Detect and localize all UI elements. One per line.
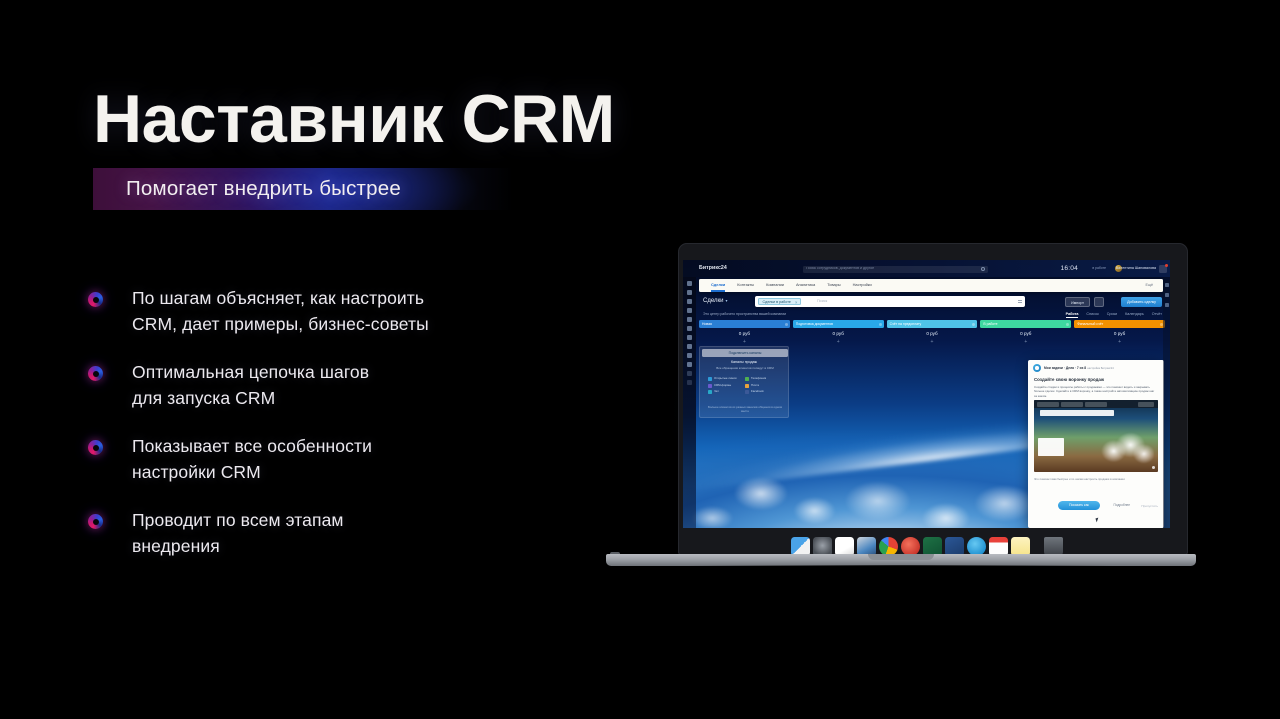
channels-panel: Подключить каналы Каналы продаж Все обра… xyxy=(699,346,789,418)
subtitle-banner: Помогает внедрить быстрее xyxy=(93,168,513,210)
filter-search-input[interactable]: Сделки в работе Поиск xyxy=(755,296,1025,307)
feature-list: По шагам объясняет, как настроить CRM, д… xyxy=(88,286,558,582)
video-tab xyxy=(1138,402,1154,407)
rail-icon-2[interactable] xyxy=(1165,293,1169,297)
openline-icon xyxy=(708,377,712,381)
section-title: Сделки▾ xyxy=(703,298,727,305)
filter-placeholder: Поиск xyxy=(817,299,827,303)
popup-body: Создайте стадии и процессы работы с прод… xyxy=(1034,385,1158,398)
kanban-add-row: + + + + + xyxy=(699,340,1165,346)
channel-item[interactable]: Facebook xyxy=(745,390,778,394)
mouse-cursor-icon xyxy=(1095,518,1099,523)
clock-time: 16:04 xyxy=(1060,265,1078,272)
app-logo-text: Битрикс24 xyxy=(699,265,727,271)
app-topbar: Битрикс24 Поиск сотрудников, документов … xyxy=(683,260,1170,277)
view-tab-deadline[interactable]: Сроки xyxy=(1107,312,1117,318)
channel-item[interactable]: Телефония xyxy=(745,377,778,381)
assistant-avatar-icon xyxy=(1033,364,1041,372)
view-tab-kanban[interactable]: Работа xyxy=(1066,312,1079,318)
popup-cta-button[interactable]: Показать как xyxy=(1058,501,1100,510)
popup-title: Создайте свою воронку продаж xyxy=(1034,378,1104,383)
global-search-placeholder: Поиск сотрудников, документов и другое xyxy=(806,267,966,271)
video-panel xyxy=(1038,438,1064,456)
popup-more-link[interactable]: Подробнее xyxy=(1113,504,1130,508)
stage-sum: 0 руб xyxy=(980,331,1071,336)
sidebar-item-chat[interactable] xyxy=(687,290,692,295)
kanban-stage[interactable]: Новая xyxy=(699,320,790,328)
chat-icon xyxy=(708,390,712,394)
list-item: Показывает все особенности настройки CRM xyxy=(88,434,558,485)
view-tab-list[interactable]: Список xyxy=(1086,312,1098,318)
word-icon[interactable] xyxy=(945,537,964,556)
sidebar-item-calendar[interactable] xyxy=(687,308,692,313)
ring-bullet-icon xyxy=(88,440,103,455)
popup-skip-link[interactable]: Пропустить xyxy=(1141,505,1158,508)
list-item-label: Проводит по всем этапам внедрения xyxy=(132,508,344,559)
video-tab xyxy=(1085,402,1107,407)
sidebar-item-drive[interactable] xyxy=(687,317,692,322)
global-search-input[interactable]: Поиск сотрудников, документов и другое xyxy=(803,266,988,273)
add-deal-plus-icon[interactable]: + xyxy=(793,340,884,346)
channel-item[interactable]: Почта xyxy=(745,384,778,388)
list-item: Оптимальная цепочка шагов для запуска CR… xyxy=(88,360,558,411)
laptop-base-notch xyxy=(868,554,934,560)
popup-header-line2: настройка Битрикс24 xyxy=(1087,367,1114,370)
play-icon[interactable] xyxy=(1152,466,1155,469)
list-item: По шагам объясняет, как настроить CRM, д… xyxy=(88,286,558,337)
video-cloud xyxy=(1098,430,1154,464)
connect-channels-button[interactable]: Подключить каналы xyxy=(702,349,788,357)
add-deal-plus-icon[interactable]: + xyxy=(1074,340,1165,346)
list-item-label: Оптимальная цепочка шагов для запуска CR… xyxy=(132,360,369,411)
system-preferences-icon[interactable] xyxy=(813,537,832,556)
view-mode-tabs: Работа Список Сроки Календарь Отчёт xyxy=(1066,312,1162,318)
calendar-icon[interactable] xyxy=(989,537,1008,556)
excel-icon[interactable] xyxy=(923,537,942,556)
stage-sum: 0 руб xyxy=(793,331,884,336)
channel-item[interactable]: CRM-формы xyxy=(708,384,741,388)
laptop-screen: Битрикс24 Поиск сотрудников, документов … xyxy=(683,260,1170,528)
stage-sum: 0 руб xyxy=(1074,331,1165,336)
kanban-stage-sums: 0 руб 0 руб 0 руб 0 руб 0 руб xyxy=(699,331,1165,336)
tab-companies[interactable]: Компании xyxy=(766,283,784,287)
add-deal-plus-icon[interactable]: + xyxy=(980,340,1071,346)
stage-sum: 0 руб xyxy=(887,331,978,336)
sidebar-item-apps[interactable] xyxy=(687,362,692,367)
tab-deals[interactable]: Сделки xyxy=(711,283,725,287)
sidebar-item-company[interactable] xyxy=(687,344,692,349)
app-sidebar xyxy=(683,277,696,528)
tab-settings[interactable]: Настройки xyxy=(853,283,872,287)
video-tab xyxy=(1037,402,1059,407)
facebook-icon xyxy=(745,390,749,394)
kanban-stage[interactable]: В работе xyxy=(980,320,1071,328)
tab-analytics[interactable]: Аналитика xyxy=(796,283,815,287)
channel-item[interactable]: Чат xyxy=(708,390,741,394)
list-item: Проводит по всем этапам внедрения xyxy=(88,508,558,559)
ring-bullet-icon xyxy=(88,292,103,307)
sidebar-item-more-2[interactable] xyxy=(687,380,692,385)
notifications-button[interactable] xyxy=(1159,265,1167,273)
finder-icon[interactable] xyxy=(791,537,810,556)
onboarding-popup: Мои задачи · Дела · 7 из 8 настройка Бит… xyxy=(1028,360,1164,528)
kanban-stage[interactable]: Счёт на предоплату xyxy=(887,320,978,328)
laptop-mockup: Битрикс24 Поиск сотрудников, документов … xyxy=(606,243,1196,598)
app-logo[interactable]: Битрикс24 xyxy=(699,266,727,272)
popup-header: Мои задачи · Дела · 7 из 8 настройка Бит… xyxy=(1033,364,1114,372)
channels-panel-title: Каналы продаж xyxy=(700,361,788,365)
sidebar-item-tasks[interactable] xyxy=(687,299,692,304)
list-item-label: По шагам объясняет, как настроить CRM, д… xyxy=(132,286,429,337)
notes-icon[interactable] xyxy=(1011,537,1030,556)
view-tab-calendar[interactable]: Календарь xyxy=(1125,312,1144,318)
search-icon xyxy=(981,267,985,271)
user-name[interactable]: Валентина Шаповалова xyxy=(1116,267,1156,271)
app-right-rail xyxy=(1163,277,1170,528)
sidebar-item-automation[interactable] xyxy=(687,353,692,358)
subtitle-text: Помогает внедрить быстрее xyxy=(126,177,401,201)
sidebar-item-feed[interactable] xyxy=(687,281,692,286)
mail-icon xyxy=(745,384,749,388)
sidebar-item-more-1[interactable] xyxy=(687,371,692,376)
app-store-icon[interactable] xyxy=(967,537,986,556)
crm-tabbar: Сделки Контакты Компании Аналитика Товар… xyxy=(699,279,1163,292)
sidebar-item-crm[interactable] xyxy=(687,326,692,331)
phone-icon xyxy=(745,377,749,381)
powerpoint-icon[interactable] xyxy=(901,537,920,556)
tab-products[interactable]: Товары xyxy=(827,283,840,287)
chevron-down-icon[interactable]: ▾ xyxy=(725,298,727,303)
add-deal-plus-icon[interactable]: + xyxy=(887,340,978,346)
view-tab-report[interactable]: Отчёт xyxy=(1152,312,1162,318)
filter-chip[interactable]: Сделки в работе xyxy=(758,298,801,305)
add-deal-plus-icon[interactable]: + xyxy=(699,340,790,346)
video-browser-bar xyxy=(1034,400,1158,408)
pages-icon[interactable] xyxy=(835,537,854,556)
chrome-icon[interactable] xyxy=(879,537,898,556)
video-tab xyxy=(1061,402,1083,407)
form-icon xyxy=(708,384,712,388)
popup-header-line1: Мои задачи · Дела · 7 из 8 xyxy=(1044,366,1086,370)
ring-bullet-icon xyxy=(88,514,103,529)
tab-more-button[interactable]: Ещё xyxy=(1145,283,1153,287)
kanban-stage[interactable]: Финальный счёт xyxy=(1074,320,1165,328)
channel-item[interactable]: Открытые линии xyxy=(708,377,741,381)
page-title: Наставник CRM xyxy=(93,79,615,159)
photos-icon[interactable] xyxy=(857,537,876,556)
tab-contacts[interactable]: Контакты xyxy=(737,283,754,287)
channels-panel-subtitle: Все обращения клиентов попадут в CRM xyxy=(706,366,784,370)
slide-root: Наставник CRM Помогает внедрить быстрее … xyxy=(0,0,1280,719)
rail-icon-3[interactable] xyxy=(1165,303,1169,307)
popup-header-text: Мои задачи · Дела · 7 из 8 настройка Бит… xyxy=(1044,366,1114,371)
section-title-label: Сделки xyxy=(703,298,723,304)
kanban-stage-bar: Новая Подготовка документов Счёт на пред… xyxy=(699,320,1165,328)
sidebar-item-sites[interactable] xyxy=(687,335,692,340)
add-deal-button[interactable]: Добавить сделку xyxy=(1121,297,1162,307)
video-panel xyxy=(1040,410,1114,416)
rail-icon-1[interactable] xyxy=(1165,283,1169,287)
kanban-stage[interactable]: Подготовка документов xyxy=(793,320,884,328)
laptop-shadow xyxy=(616,565,1186,575)
stage-sum: 0 руб xyxy=(699,331,790,336)
bitrix24-window: Битрикс24 Поиск сотрудников, документов … xyxy=(683,260,1170,528)
filter-icon[interactable] xyxy=(1018,300,1022,303)
hint-text: Это центр рабочего пространства вашей ко… xyxy=(703,313,786,317)
popup-note: Это поможет вам быстрее и по шагам настр… xyxy=(1034,477,1158,481)
trash-icon[interactable] xyxy=(1044,537,1063,556)
settings-gear-icon[interactable] xyxy=(1094,297,1104,307)
ring-bullet-icon xyxy=(88,366,103,381)
channels-grid: Открытые линии Телефония CRM-формы Почта… xyxy=(708,377,782,394)
list-item-label: Показывает все особенности настройки CRM xyxy=(132,434,372,485)
popup-video-thumbnail[interactable] xyxy=(1034,400,1158,472)
clock-label: в работе xyxy=(1092,267,1106,271)
channels-panel-footer: Больше клиентов из разных каналов общени… xyxy=(706,405,784,413)
import-button[interactable]: Импорт xyxy=(1065,297,1090,307)
